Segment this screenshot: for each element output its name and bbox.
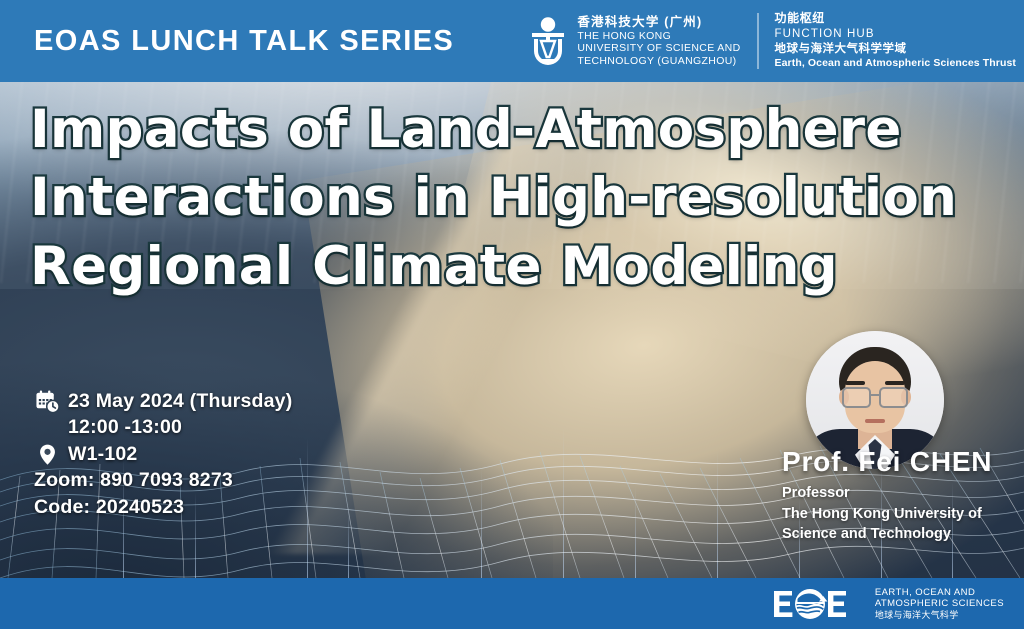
eoas-name-en-1: EARTH, OCEAN AND xyxy=(875,586,1004,598)
poster-header-bar: EOAS LUNCH TALK SERIES 香港科技大学 (广州) THE H… xyxy=(0,0,1024,82)
function-hub-en: FUNCTION HUB xyxy=(775,27,1017,42)
event-venue: W1-102 xyxy=(68,443,137,466)
talk-title-line-2: Interactions in High-resolution xyxy=(30,164,970,232)
speaker-affiliation-line-1: The Hong Kong University of xyxy=(782,504,992,525)
hkust-gz-logo-icon xyxy=(528,15,568,67)
eoas-name-en-2: ATMOSPHERIC SCIENCES xyxy=(875,598,1004,610)
event-time: 12:00 -13:00 xyxy=(68,416,182,439)
eoas-wave-logo-icon xyxy=(772,587,866,621)
function-hub-cn: 功能枢纽 xyxy=(775,11,1017,27)
location-pin-icon xyxy=(34,441,60,467)
event-details: 23 May 2024 (Thursday) 12:00 -13:00 W1-1… xyxy=(34,388,292,523)
event-zoom-code: Code: 20240523 xyxy=(34,496,292,519)
talk-title-line-1: Impacts of Land-Atmosphere xyxy=(30,96,970,164)
header-divider xyxy=(757,13,759,69)
speaker-info: Prof. Fei CHEN Professor The Hong Kong U… xyxy=(782,446,992,545)
speaker-name: Prof. Fei CHEN xyxy=(782,446,992,478)
event-date-row: 23 May 2024 (Thursday) xyxy=(34,388,292,414)
hkust-logo-block: 香港科技大学 (广州) THE HONG KONG UNIVERSITY OF … xyxy=(528,15,740,67)
event-date: 23 May 2024 (Thursday) xyxy=(68,390,292,413)
calendar-clock-icon xyxy=(34,388,60,414)
eoas-logo: EARTH, OCEAN AND ATMOSPHERIC SCIENCES 地球… xyxy=(772,586,1004,620)
eoas-thrust-en: Earth, Ocean and Atmospheric Sciences Th… xyxy=(775,57,1017,71)
hkust-name-en-3: TECHNOLOGY (GUANGZHOU) xyxy=(577,55,740,67)
event-venue-row: W1-102 xyxy=(34,441,292,467)
header-logos: 香港科技大学 (广州) THE HONG KONG UNIVERSITY OF … xyxy=(528,0,1024,82)
series-title: EOAS LUNCH TALK SERIES xyxy=(34,25,454,58)
speaker-title: Professor xyxy=(782,483,992,504)
hkust-name-en-1: THE HONG KONG xyxy=(577,30,740,42)
talk-title-line-3: Regional Climate Modeling xyxy=(30,233,970,301)
event-time-row: 12:00 -13:00 xyxy=(68,416,292,439)
hkust-logo-text: 香港科技大学 (广州) THE HONG KONG UNIVERSITY OF … xyxy=(577,15,740,67)
event-zoom-id: Zoom: 890 7093 8273 xyxy=(34,469,292,492)
hkust-name-cn: 香港科技大学 (广州) xyxy=(577,15,740,30)
eoas-name-cn: 地球与海洋大气科学 xyxy=(875,610,1004,621)
eoas-thrust-cn: 地球与海洋大气科学学域 xyxy=(775,42,1017,57)
talk-title: Impacts of Land-Atmosphere Interactions … xyxy=(30,96,970,301)
hkust-name-en-2: UNIVERSITY OF SCIENCE AND xyxy=(577,42,740,54)
function-hub-block: 功能枢纽 FUNCTION HUB 地球与海洋大气科学学域 Earth, Oce… xyxy=(775,11,1024,70)
eoas-logo-text: EARTH, OCEAN AND ATMOSPHERIC SCIENCES 地球… xyxy=(875,586,1004,620)
poster-footer-bar: EARTH, OCEAN AND ATMOSPHERIC SCIENCES 地球… xyxy=(0,578,1024,629)
speaker-affiliation-line-2: Science and Technology xyxy=(782,524,992,545)
event-poster: EOAS LUNCH TALK SERIES 香港科技大学 (广州) THE H… xyxy=(0,0,1024,629)
